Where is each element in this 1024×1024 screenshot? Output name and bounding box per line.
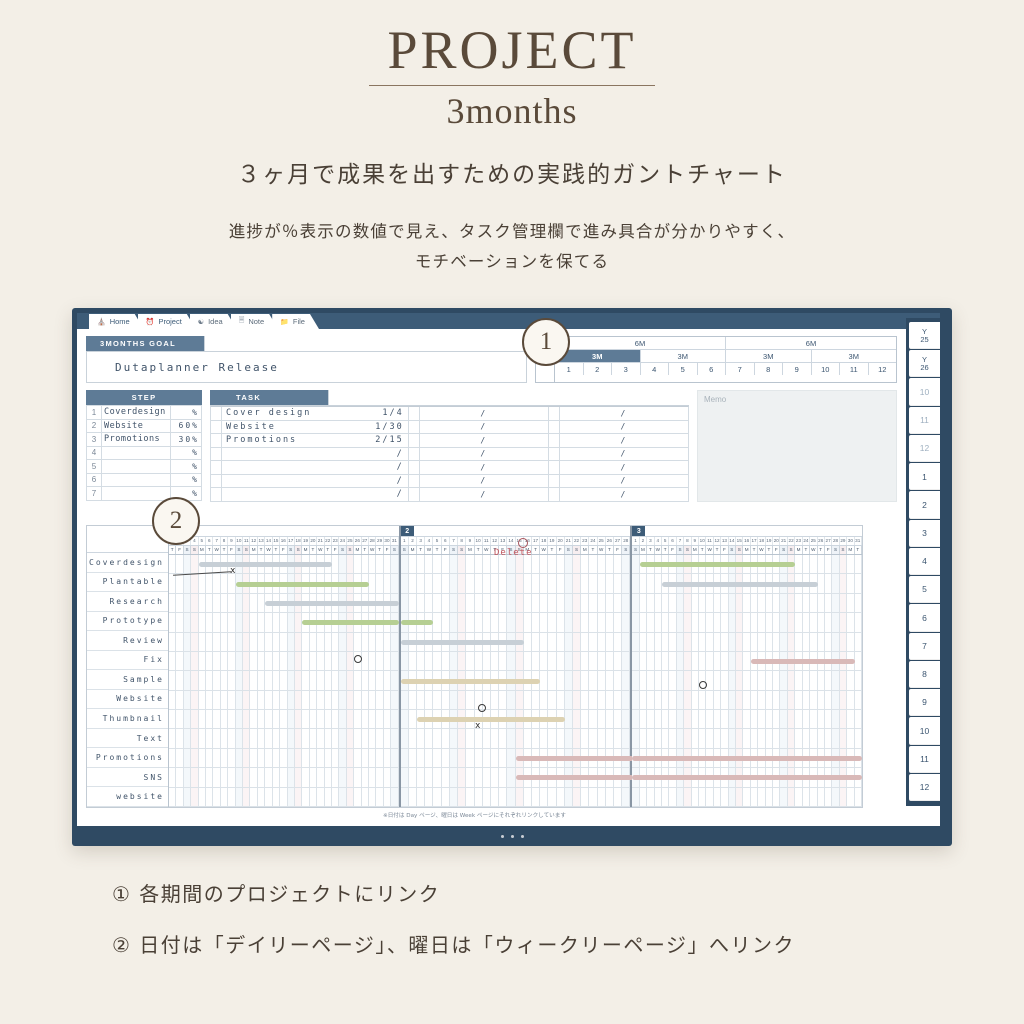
task-checkbox-3[interactable] — [549, 434, 560, 447]
gantt-task-label[interactable]: Review — [87, 631, 168, 651]
page-tab-5[interactable]: 5 — [909, 576, 940, 603]
gantt-day-6[interactable]: 6 — [669, 537, 676, 545]
gantt-weekday-F[interactable]: F — [332, 546, 339, 554]
task-date: / — [397, 449, 404, 459]
gantt-weekday-T[interactable]: T — [855, 546, 862, 554]
gantt-day-17[interactable]: 17 — [288, 537, 295, 545]
gantt-weekday-S[interactable]: S — [736, 546, 743, 554]
gantt-weekday-M[interactable]: M — [302, 546, 309, 554]
goal-row: 3MONTHS GOAL Dutaplanner Release Y 6M — [86, 336, 897, 383]
gantt-weekday-W[interactable]: W — [598, 546, 606, 554]
gantt-weekday-T[interactable]: T — [699, 546, 706, 554]
gantt-weekday-W[interactable]: W — [265, 546, 272, 554]
gantt-weekday-S[interactable]: S — [347, 546, 354, 554]
gantt-weekday-M[interactable]: M — [795, 546, 802, 554]
gantt-day-21[interactable]: 21 — [565, 537, 573, 545]
page-tab-11[interactable]: 11 — [909, 407, 940, 434]
gantt-weekday-S[interactable]: S — [565, 546, 573, 554]
month-cell-3[interactable]: 3 — [612, 363, 641, 375]
gantt-weekday-T[interactable]: T — [258, 546, 265, 554]
gantt-day-20[interactable]: 20 — [557, 537, 565, 545]
month-cell-4[interactable]: 4 — [641, 363, 670, 375]
gantt-day-17[interactable]: 17 — [532, 537, 540, 545]
gantt-weekday-T[interactable]: T — [433, 546, 441, 554]
gantt-day-12[interactable]: 12 — [250, 537, 257, 545]
tab-home[interactable]: ⛪ Home — [89, 314, 144, 329]
gantt-day-30[interactable]: 30 — [384, 537, 391, 545]
gantt-day-31[interactable]: 31 — [391, 537, 398, 545]
gantt-day-row: 1234567891011121314151617181920212223242… — [169, 537, 399, 546]
tab-note[interactable]: 🗏 Note — [231, 314, 278, 329]
gantt-task-label[interactable]: Plantable — [87, 573, 168, 593]
gantt-weekday-T[interactable]: T — [417, 546, 425, 554]
gantt-weekday-S[interactable]: S — [622, 546, 630, 554]
page-tab-11[interactable]: 11 — [909, 746, 940, 773]
gantt-day-10[interactable]: 10 — [699, 537, 706, 545]
task-name: Website — [226, 422, 276, 432]
gantt-day-26[interactable]: 26 — [606, 537, 614, 545]
gantt-bar[interactable] — [401, 620, 434, 625]
gantt-day-8[interactable]: 8 — [684, 537, 691, 545]
gantt-day-29[interactable]: 29 — [840, 537, 847, 545]
gantt-bar[interactable] — [417, 717, 565, 722]
gantt-weekday-T[interactable]: T — [475, 546, 483, 554]
gantt-weekday-M[interactable]: M — [743, 546, 750, 554]
gantt-day-17[interactable]: 17 — [751, 537, 758, 545]
gantt-day-5[interactable]: 5 — [662, 537, 669, 545]
delete-annotation: Delete — [494, 548, 533, 558]
gantt-weekday-S[interactable]: S — [632, 546, 639, 554]
gantt-day-16[interactable]: 16 — [743, 537, 750, 545]
gantt-weekday-T[interactable]: T — [606, 546, 614, 554]
gantt-bar[interactable] — [302, 620, 398, 625]
task-checkbox-2[interactable] — [409, 421, 420, 434]
gantt-day-10[interactable]: 10 — [236, 537, 243, 545]
gantt-weekday-S[interactable]: S — [450, 546, 458, 554]
gantt-day-3[interactable]: 3 — [647, 537, 654, 545]
task-checkbox[interactable] — [211, 488, 222, 501]
gantt-day-11[interactable]: 11 — [706, 537, 713, 545]
gantt-weekday-S[interactable]: S — [684, 546, 691, 554]
task-checkbox[interactable] — [211, 421, 222, 434]
gantt-day-18[interactable]: 18 — [295, 537, 302, 545]
gantt-bar[interactable] — [199, 562, 332, 567]
task-checkbox-2[interactable] — [409, 488, 420, 501]
gantt-day-24[interactable]: 24 — [589, 537, 597, 545]
page-tab-9[interactable]: 9 — [909, 689, 940, 716]
month-cell-6[interactable]: 6 — [698, 363, 727, 375]
gantt-day-5[interactable]: 5 — [199, 537, 206, 545]
gantt-day-31[interactable]: 31 — [855, 537, 862, 545]
gantt-weekday-M[interactable]: M — [640, 546, 647, 554]
gantt-task-name: Promotions — [96, 753, 164, 762]
gantt-weekday-S[interactable]: S — [458, 546, 466, 554]
gantt-weekday-M[interactable]: M — [250, 546, 257, 554]
gantt-bar[interactable] — [401, 679, 540, 684]
month-cell-9[interactable]: 9 — [783, 363, 812, 375]
task-checkbox-2[interactable] — [409, 475, 420, 488]
folder-icon: 📁 — [280, 318, 289, 326]
memo-box[interactable]: Memo — [697, 390, 897, 502]
step-row[interactable]: 4% — [87, 446, 202, 460]
gantt-day-30[interactable]: 30 — [847, 537, 854, 545]
gantt-weekday-T[interactable]: T — [589, 546, 597, 554]
gantt-day-7[interactable]: 7 — [677, 537, 684, 545]
gantt-day-2[interactable]: 2 — [409, 537, 417, 545]
gantt-bar[interactable] — [640, 562, 796, 567]
table-row[interactable]: Cover design1/4// — [210, 406, 689, 421]
page-tab-12[interactable]: 12 — [909, 774, 940, 801]
gantt-weekday-S[interactable]: S — [788, 546, 795, 554]
gantt-weekday-M[interactable]: M — [581, 546, 589, 554]
gantt-task-label[interactable]: Text — [87, 729, 168, 749]
month-selector[interactable]: Y 6M 6M 3M 3M 3M 3M — [535, 336, 897, 383]
goal-header-row: 3MONTHS GOAL — [86, 336, 527, 352]
gantt-day-4[interactable]: 4 — [655, 537, 662, 545]
gantt-weekday-W[interactable]: W — [810, 546, 817, 554]
gantt-weekday-T[interactable]: T — [221, 546, 228, 554]
table-row[interactable]: /// — [210, 461, 689, 475]
page-tab-3[interactable]: 3 — [909, 520, 940, 547]
page-tab-Y26[interactable]: Y26 — [909, 350, 940, 377]
gantt-task-label[interactable]: Website — [87, 690, 168, 710]
step-row[interactable]: 1Coverdesign% — [87, 406, 202, 420]
month-cell-10[interactable]: 10 — [812, 363, 841, 375]
gantt-task-label[interactable]: Research — [87, 592, 168, 612]
gantt-task-label[interactable]: SNS — [87, 768, 168, 788]
gantt-day-8[interactable]: 8 — [221, 537, 228, 545]
gantt-weekday-T[interactable]: T — [751, 546, 758, 554]
gantt-weekday-T[interactable]: T — [273, 546, 280, 554]
page-tab-10[interactable]: 10 — [909, 378, 940, 405]
gantt-weekday-T[interactable]: T — [169, 546, 176, 554]
task-checkbox[interactable] — [211, 448, 222, 461]
month-cell-1[interactable]: 1 — [555, 363, 584, 375]
gantt-task-label[interactable]: Promotions — [87, 748, 168, 768]
gantt-weekday-T[interactable]: T — [548, 546, 556, 554]
tab-file[interactable]: 📁 File — [272, 314, 319, 329]
gantt-weekday-S[interactable]: S — [780, 546, 787, 554]
gantt-day-14[interactable]: 14 — [507, 537, 515, 545]
table-row[interactable]: Promotions2/15// — [210, 434, 689, 448]
table-row[interactable]: /// — [210, 448, 689, 462]
page-tab-7[interactable]: 7 — [909, 633, 940, 660]
gantt-weekday-W[interactable]: W — [213, 546, 220, 554]
gantt-weekday-W[interactable]: W — [540, 546, 548, 554]
gantt-day-12[interactable]: 12 — [491, 537, 499, 545]
gantt-day-22[interactable]: 22 — [573, 537, 581, 545]
gantt-weekday-W[interactable]: W — [483, 546, 491, 554]
task-col2: / — [480, 422, 487, 431]
gantt-weekday-S[interactable]: S — [729, 546, 736, 554]
step-row[interactable]: 6% — [87, 473, 202, 487]
gantt-day-27[interactable]: 27 — [614, 537, 622, 545]
gantt-day-23[interactable]: 23 — [581, 537, 589, 545]
gantt-weekday-F[interactable]: F — [442, 546, 450, 554]
poster: PROJECT 3months ３ヶ月で成果を出すための実践的ガントチャート 進… — [0, 0, 1024, 1024]
gantt-weekday-M[interactable]: M — [354, 546, 361, 554]
task-date: / — [397, 476, 404, 486]
gantt-day-29[interactable]: 29 — [376, 537, 383, 545]
gantt-day-23[interactable]: 23 — [795, 537, 802, 545]
gantt-weekday-M[interactable]: M — [692, 546, 699, 554]
task-checkbox-3[interactable] — [549, 421, 560, 434]
task-col3: / — [621, 436, 628, 445]
gantt-weekday-S[interactable]: S — [236, 546, 243, 554]
gantt-bar[interactable] — [265, 601, 398, 606]
gantt-bar[interactable] — [236, 582, 369, 587]
gantt-day-25[interactable]: 25 — [598, 537, 606, 545]
month-cell-11[interactable]: 11 — [840, 363, 869, 375]
gantt-day-28[interactable]: 28 — [369, 537, 376, 545]
month-cell-8[interactable]: 8 — [755, 363, 784, 375]
gantt-day-22[interactable]: 22 — [325, 537, 332, 545]
gantt-weekday-T[interactable]: T — [362, 546, 369, 554]
page-tab-10[interactable]: 10 — [909, 717, 940, 744]
gantt-day-20[interactable]: 20 — [310, 537, 317, 545]
task-col3: / — [621, 463, 628, 472]
task-checkbox-3[interactable] — [549, 407, 560, 420]
gantt-weekday-S[interactable]: S — [391, 546, 398, 554]
gantt-weekday-F[interactable]: F — [280, 546, 287, 554]
gantt-weekday-S[interactable]: S — [243, 546, 250, 554]
gantt-day-14[interactable]: 14 — [265, 537, 272, 545]
task-checkbox-2[interactable] — [409, 461, 420, 474]
gantt-weekday-S[interactable]: S — [288, 546, 295, 554]
gantt-day-24[interactable]: 24 — [339, 537, 346, 545]
gantt-weekday-W[interactable]: W — [706, 546, 713, 554]
task-checkbox-2[interactable] — [409, 434, 420, 447]
gantt-weekday-F[interactable]: F — [384, 546, 391, 554]
step-task-row: STEP 1Coverdesign%2Website60%3Promotions… — [86, 390, 897, 502]
gantt-weekday-F[interactable]: F — [721, 546, 728, 554]
gantt-day-28[interactable]: 28 — [832, 537, 839, 545]
planner-sheet: 3MONTHS GOAL Dutaplanner Release Y 6M — [77, 329, 906, 826]
gantt-weekday-F[interactable]: F — [773, 546, 780, 554]
gantt-day-11[interactable]: 11 — [483, 537, 491, 545]
quarter-3[interactable]: 3M — [726, 350, 812, 362]
gantt-weekday-S[interactable]: S — [840, 546, 847, 554]
page-tab-1[interactable]: 1 — [909, 463, 940, 490]
gantt-day-26[interactable]: 26 — [818, 537, 825, 545]
gantt-day-4[interactable]: 4 — [425, 537, 433, 545]
half-1[interactable]: 6M — [555, 337, 726, 349]
gantt-day-23[interactable]: 23 — [332, 537, 339, 545]
gantt-day-2[interactable]: 2 — [640, 537, 647, 545]
half-2[interactable]: 6M — [726, 337, 896, 349]
gantt-weekday-W[interactable]: W — [425, 546, 433, 554]
gantt-task-name: Thumbnail — [103, 714, 164, 723]
step-section: STEP 1Coverdesign%2Website60%3Promotions… — [86, 390, 202, 502]
gantt-day-6[interactable]: 6 — [206, 537, 213, 545]
gantt-weekday-S[interactable]: S — [295, 546, 302, 554]
gantt-day-12[interactable]: 12 — [714, 537, 721, 545]
table-row[interactable]: Website1/30// — [210, 421, 689, 435]
gantt-day-7[interactable]: 7 — [213, 537, 220, 545]
task-checkbox-2[interactable] — [409, 448, 420, 461]
gantt-day-21[interactable]: 21 — [780, 537, 787, 545]
month-cell-5[interactable]: 5 — [669, 363, 698, 375]
gantt-day-22[interactable]: 22 — [788, 537, 795, 545]
gantt-weekday-T[interactable]: T — [766, 546, 773, 554]
gantt-day-18[interactable]: 18 — [540, 537, 548, 545]
gantt-weekday-W[interactable]: W — [369, 546, 376, 554]
gantt-day-13[interactable]: 13 — [721, 537, 728, 545]
step-row[interactable]: 3Promotions30% — [87, 433, 202, 447]
gantt-day-20[interactable]: 20 — [773, 537, 780, 545]
gantt-day-14[interactable]: 14 — [729, 537, 736, 545]
task-col3: / — [621, 476, 628, 485]
gantt-day-1[interactable]: 1 — [401, 537, 409, 545]
gantt-day-5[interactable]: 5 — [433, 537, 441, 545]
gantt-day-21[interactable]: 21 — [317, 537, 324, 545]
gantt-weekday-S[interactable]: S — [573, 546, 581, 554]
gantt-day-19[interactable]: 19 — [302, 537, 309, 545]
gantt-day-9[interactable]: 9 — [228, 537, 235, 545]
gantt-weekday-S[interactable]: S — [832, 546, 839, 554]
gantt-task-label[interactable]: website — [87, 787, 168, 807]
task-checkbox-3[interactable] — [549, 475, 560, 488]
gantt-day-25[interactable]: 25 — [347, 537, 354, 545]
gantt-weekday-S[interactable]: S — [339, 546, 346, 554]
gantt-weekday-F[interactable]: F — [669, 546, 676, 554]
gantt-day-7[interactable]: 7 — [450, 537, 458, 545]
gantt-day-24[interactable]: 24 — [803, 537, 810, 545]
month-cell-12[interactable]: 12 — [869, 363, 897, 375]
page-tab-2[interactable]: 2 — [909, 491, 940, 518]
gantt-weekday-T[interactable]: T — [803, 546, 810, 554]
gantt-weekday-T[interactable]: T — [532, 546, 540, 554]
page-subtitle: 3months — [0, 90, 1024, 133]
month-cell-2[interactable]: 2 — [584, 363, 613, 375]
gantt-day-27[interactable]: 27 — [362, 537, 369, 545]
task-checkbox-2[interactable] — [409, 407, 420, 420]
gantt-day-16[interactable]: 16 — [280, 537, 287, 545]
step-row[interactable]: 5% — [87, 460, 202, 474]
task-checkbox-3[interactable] — [549, 448, 560, 461]
task-checkbox-3[interactable] — [549, 461, 560, 474]
tab-note-label: Note — [248, 317, 264, 326]
gantt-weekday-T[interactable]: T — [325, 546, 332, 554]
quarter-2[interactable]: 3M — [641, 350, 727, 362]
gantt-day-13[interactable]: 13 — [258, 537, 265, 545]
gantt-bars — [632, 555, 862, 807]
gantt-weekday-T[interactable]: T — [206, 546, 213, 554]
gantt-task-label[interactable]: Thumbnail — [87, 709, 168, 729]
gantt-day-3[interactable]: 3 — [417, 537, 425, 545]
gantt-weekday-M[interactable]: M — [199, 546, 206, 554]
gantt-weekday-F[interactable]: F — [176, 546, 183, 554]
gantt-bar[interactable] — [662, 582, 818, 587]
gantt-weekday-S[interactable]: S — [184, 546, 191, 554]
gantt-weekday-T[interactable]: T — [818, 546, 825, 554]
gantt-task-label[interactable]: Prototype — [87, 612, 168, 632]
gantt-weekday-M[interactable]: M — [847, 546, 854, 554]
gantt-weekday-F[interactable]: F — [228, 546, 235, 554]
gantt-weekday-M[interactable]: M — [409, 546, 417, 554]
gantt-day-6[interactable]: 6 — [442, 537, 450, 545]
gantt-task-label[interactable]: Coverdesign — [87, 553, 168, 573]
gantt-weekday-M[interactable]: M — [466, 546, 474, 554]
task-date: 1/4 — [382, 408, 403, 418]
step-name: Coverdesign — [104, 407, 166, 417]
gantt-day-9[interactable]: 9 — [466, 537, 474, 545]
gantt-weekday-W[interactable]: W — [758, 546, 765, 554]
gantt-day-1[interactable]: 1 — [632, 537, 639, 545]
task-checkbox[interactable] — [211, 475, 222, 488]
gantt-task-label[interactable]: Fix — [87, 651, 168, 671]
gantt-day-19[interactable]: 19 — [548, 537, 556, 545]
tab-project[interactable]: ⏰ Project — [138, 314, 196, 329]
gantt-month-label[interactable]: 3 — [632, 526, 645, 536]
description-line-1: 進捗が％表示の数値で見え、タスク管理欄で進み具合が分かりやすく、 — [0, 217, 1024, 248]
page-tab-12[interactable]: 12 — [909, 435, 940, 462]
gantt-day-15[interactable]: 15 — [273, 537, 280, 545]
gantt-weekday-T[interactable]: T — [714, 546, 721, 554]
gantt-day-10[interactable]: 10 — [475, 537, 483, 545]
tab-idea[interactable]: ☯ Idea — [190, 314, 237, 329]
planner-device: ⛪ Home ⏰ Project ☯ Idea 🗏 Note 📁 Fil — [72, 308, 952, 846]
gantt-weekday-S[interactable]: S — [677, 546, 684, 554]
page-tab-6[interactable]: 6 — [909, 604, 940, 631]
gantt-weekday-T[interactable]: T — [647, 546, 654, 554]
goal-input[interactable]: Dutaplanner Release — [86, 352, 527, 383]
gantt-day-28[interactable]: 28 — [622, 537, 630, 545]
gantt-milestone-marker[interactable] — [699, 681, 707, 689]
gantt-weekday-F[interactable]: F — [614, 546, 622, 554]
gantt-weekday-T[interactable]: T — [376, 546, 383, 554]
gantt-day-9[interactable]: 9 — [692, 537, 699, 545]
gantt-weekday-F[interactable]: F — [557, 546, 565, 554]
gantt-day-11[interactable]: 11 — [243, 537, 250, 545]
table-row[interactable]: /// — [210, 488, 689, 502]
gantt-day-25[interactable]: 25 — [810, 537, 817, 545]
task-checkbox[interactable] — [211, 434, 222, 447]
gantt-day-13[interactable]: 13 — [499, 537, 507, 545]
gantt-day-18[interactable]: 18 — [758, 537, 765, 545]
gantt-weekday-T[interactable]: T — [310, 546, 317, 554]
task-checkbox[interactable] — [211, 407, 222, 420]
task-checkbox[interactable] — [211, 461, 222, 474]
gantt-day-8[interactable]: 8 — [458, 537, 466, 545]
gantt-month-label[interactable]: 2 — [401, 526, 414, 536]
gantt-weekday-S[interactable]: S — [191, 546, 198, 554]
gantt-task-label[interactable]: Sample — [87, 670, 168, 690]
gantt-day-15[interactable]: 15 — [736, 537, 743, 545]
gantt-day-26[interactable]: 26 — [354, 537, 361, 545]
step-row[interactable]: 2Website60% — [87, 419, 202, 433]
page-tab-Y25[interactable]: Y25 — [909, 322, 940, 349]
gantt-weekday-S[interactable]: S — [401, 546, 409, 554]
quarter-4[interactable]: 3M — [812, 350, 897, 362]
gantt-weekday-W[interactable]: W — [317, 546, 324, 554]
task-checkbox-3[interactable] — [549, 488, 560, 501]
gantt-bar[interactable] — [751, 659, 855, 664]
gantt-weekday-row: TFSSMTWTFSSMTWTFSSMTWTFSSMTWTFS — [169, 546, 399, 555]
gantt-day-27[interactable]: 27 — [825, 537, 832, 545]
page-tab-8[interactable]: 8 — [909, 661, 940, 688]
gantt-weekday-W[interactable]: W — [655, 546, 662, 554]
gantt-weekday-T[interactable]: T — [662, 546, 669, 554]
gantt-weekday-F[interactable]: F — [825, 546, 832, 554]
table-row[interactable]: /// — [210, 475, 689, 489]
gantt-bar[interactable] — [632, 756, 862, 761]
month-cell-7[interactable]: 7 — [726, 363, 755, 375]
gantt-bar[interactable] — [632, 775, 862, 780]
gantt-bar[interactable] — [401, 640, 524, 645]
gantt-day-19[interactable]: 19 — [766, 537, 773, 545]
page-tab-4[interactable]: 4 — [909, 548, 940, 575]
